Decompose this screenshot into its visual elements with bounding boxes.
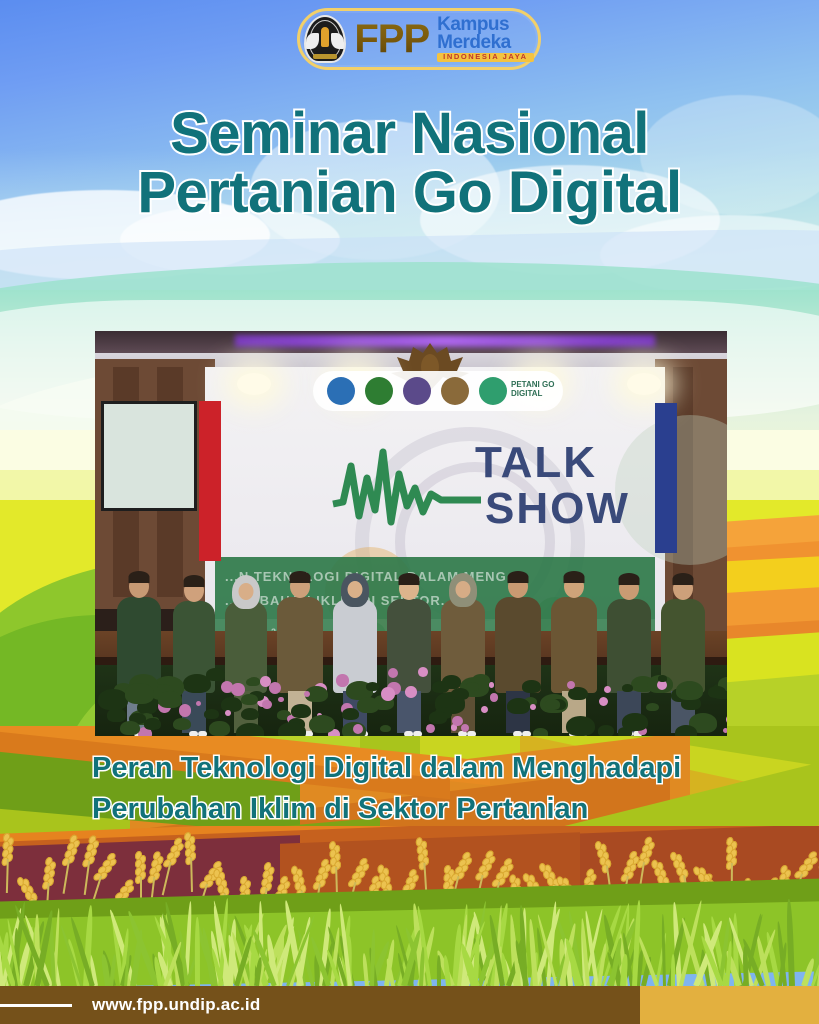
flower-shape bbox=[489, 682, 495, 688]
leaf-shape bbox=[241, 694, 257, 706]
leaf-shape bbox=[278, 722, 306, 736]
leaf-shape bbox=[209, 721, 229, 735]
flower-shape bbox=[196, 701, 201, 706]
leaf-shape bbox=[676, 681, 703, 700]
footer-gold-block bbox=[640, 986, 819, 1024]
fpp-wordmark: FPP bbox=[354, 19, 429, 59]
title-line-1: Seminar Nasional bbox=[0, 104, 819, 163]
leaf-shape bbox=[366, 682, 379, 691]
grass-blade bbox=[443, 955, 451, 986]
grass-blade bbox=[195, 917, 200, 986]
leaf-shape bbox=[120, 721, 140, 735]
website-url[interactable]: www.fpp.undip.ac.id bbox=[92, 995, 260, 1015]
leaf-shape bbox=[173, 718, 190, 730]
flower-shape bbox=[426, 724, 435, 733]
flower-shape bbox=[490, 693, 498, 701]
grass-blades bbox=[0, 890, 819, 986]
leaf-shape bbox=[98, 689, 127, 709]
seminar-photo: PETANI GO DIGITAL TALK SHOW ...N TEKNOLO… bbox=[95, 331, 727, 736]
wheat-stalk bbox=[727, 837, 734, 883]
flower-shape bbox=[304, 691, 310, 697]
leaf-shape bbox=[206, 668, 225, 681]
leaf-shape bbox=[658, 675, 667, 682]
flower-shape bbox=[599, 697, 608, 706]
leaf-shape bbox=[622, 684, 633, 692]
leaf-shape bbox=[675, 725, 697, 736]
leaf-shape bbox=[342, 708, 359, 720]
flower-shape bbox=[381, 687, 395, 701]
flower-shape bbox=[262, 700, 271, 709]
leaf-shape bbox=[533, 728, 548, 736]
leaf-shape bbox=[158, 691, 182, 708]
kampus-line-1: Kampus bbox=[437, 16, 509, 33]
flower-shape bbox=[604, 686, 612, 694]
flower-shape bbox=[405, 686, 417, 698]
kampus-line-2: Merdeka bbox=[437, 34, 511, 51]
kampus-merdeka-wordmark: Kampus Merdeka INDONESIA JAYA bbox=[437, 16, 534, 62]
wheat-stalk bbox=[331, 841, 340, 887]
leaf-shape bbox=[566, 716, 595, 736]
leaf-shape bbox=[309, 715, 335, 733]
grass-blade bbox=[661, 914, 666, 986]
flower-shape bbox=[461, 724, 469, 732]
leaf-shape bbox=[598, 725, 614, 736]
poster-root: PETANI GO DIGITAL TALK SHOW ...N TEKNOLO… bbox=[0, 0, 819, 1024]
wheat-grass-band bbox=[0, 826, 819, 986]
leaf-shape bbox=[545, 699, 561, 710]
flower-shape bbox=[726, 714, 727, 725]
flower-shape bbox=[269, 682, 281, 694]
footer-bar: www.fpp.undip.ac.id bbox=[0, 986, 819, 1024]
wheat-stalk bbox=[186, 832, 194, 878]
leaf-shape bbox=[144, 718, 161, 730]
undip-crest-icon bbox=[304, 15, 346, 63]
flower-shape bbox=[336, 674, 348, 686]
flower-shape bbox=[231, 683, 245, 697]
flower-shape bbox=[530, 704, 536, 710]
footer-dash-line bbox=[0, 1004, 72, 1007]
flower-shape bbox=[179, 704, 192, 717]
leaf-shape bbox=[241, 708, 259, 721]
flower-shape bbox=[388, 668, 398, 678]
leaf-shape bbox=[622, 713, 648, 731]
fpp-kampus-merdeka-logo: FPP Kampus Merdeka INDONESIA JAYA bbox=[297, 8, 541, 70]
leaf-shape bbox=[236, 723, 264, 736]
leaf-shape bbox=[522, 680, 540, 693]
title-line-2: Pertanian Go Digital bbox=[0, 163, 819, 222]
leaf-shape bbox=[125, 683, 154, 704]
leaf-shape bbox=[429, 711, 447, 724]
flower-shape bbox=[278, 697, 284, 703]
flower-shape bbox=[567, 681, 575, 689]
subtitle-line-2: Perubahan Iklim di Sektor Pertanian bbox=[92, 789, 792, 830]
kampus-tagline: INDONESIA JAYA bbox=[437, 53, 534, 62]
flower-shape bbox=[481, 706, 488, 713]
leaf-shape bbox=[291, 704, 311, 718]
flower-shape bbox=[418, 667, 428, 677]
leaf-shape bbox=[221, 697, 242, 712]
leaf-shape bbox=[357, 697, 379, 712]
leaf-shape bbox=[432, 681, 449, 693]
leaf-shape bbox=[248, 677, 261, 686]
leaf-shape bbox=[568, 687, 588, 701]
grass-blade bbox=[109, 954, 117, 986]
flower-shape bbox=[225, 710, 231, 716]
grass-blade bbox=[786, 899, 795, 986]
page-subtitle: Peran Teknologi Digital dalam Menghadapi… bbox=[92, 748, 792, 830]
leaf-shape bbox=[646, 703, 658, 712]
leaf-shape bbox=[507, 698, 530, 714]
leaf-shape bbox=[107, 708, 126, 721]
grass-blade bbox=[671, 954, 675, 986]
grass-blade bbox=[362, 953, 369, 986]
leaf-shape bbox=[204, 709, 218, 719]
decorative-flowers bbox=[95, 661, 727, 736]
flower-shape bbox=[723, 728, 727, 733]
leaf-shape bbox=[380, 725, 391, 733]
subtitle-line-1: Peran Teknologi Digital dalam Menghadapi bbox=[92, 748, 792, 789]
leaf-shape bbox=[451, 688, 469, 700]
page-title: Seminar Nasional Pertanian Go Digital bbox=[0, 104, 819, 222]
leaf-shape bbox=[708, 686, 725, 698]
